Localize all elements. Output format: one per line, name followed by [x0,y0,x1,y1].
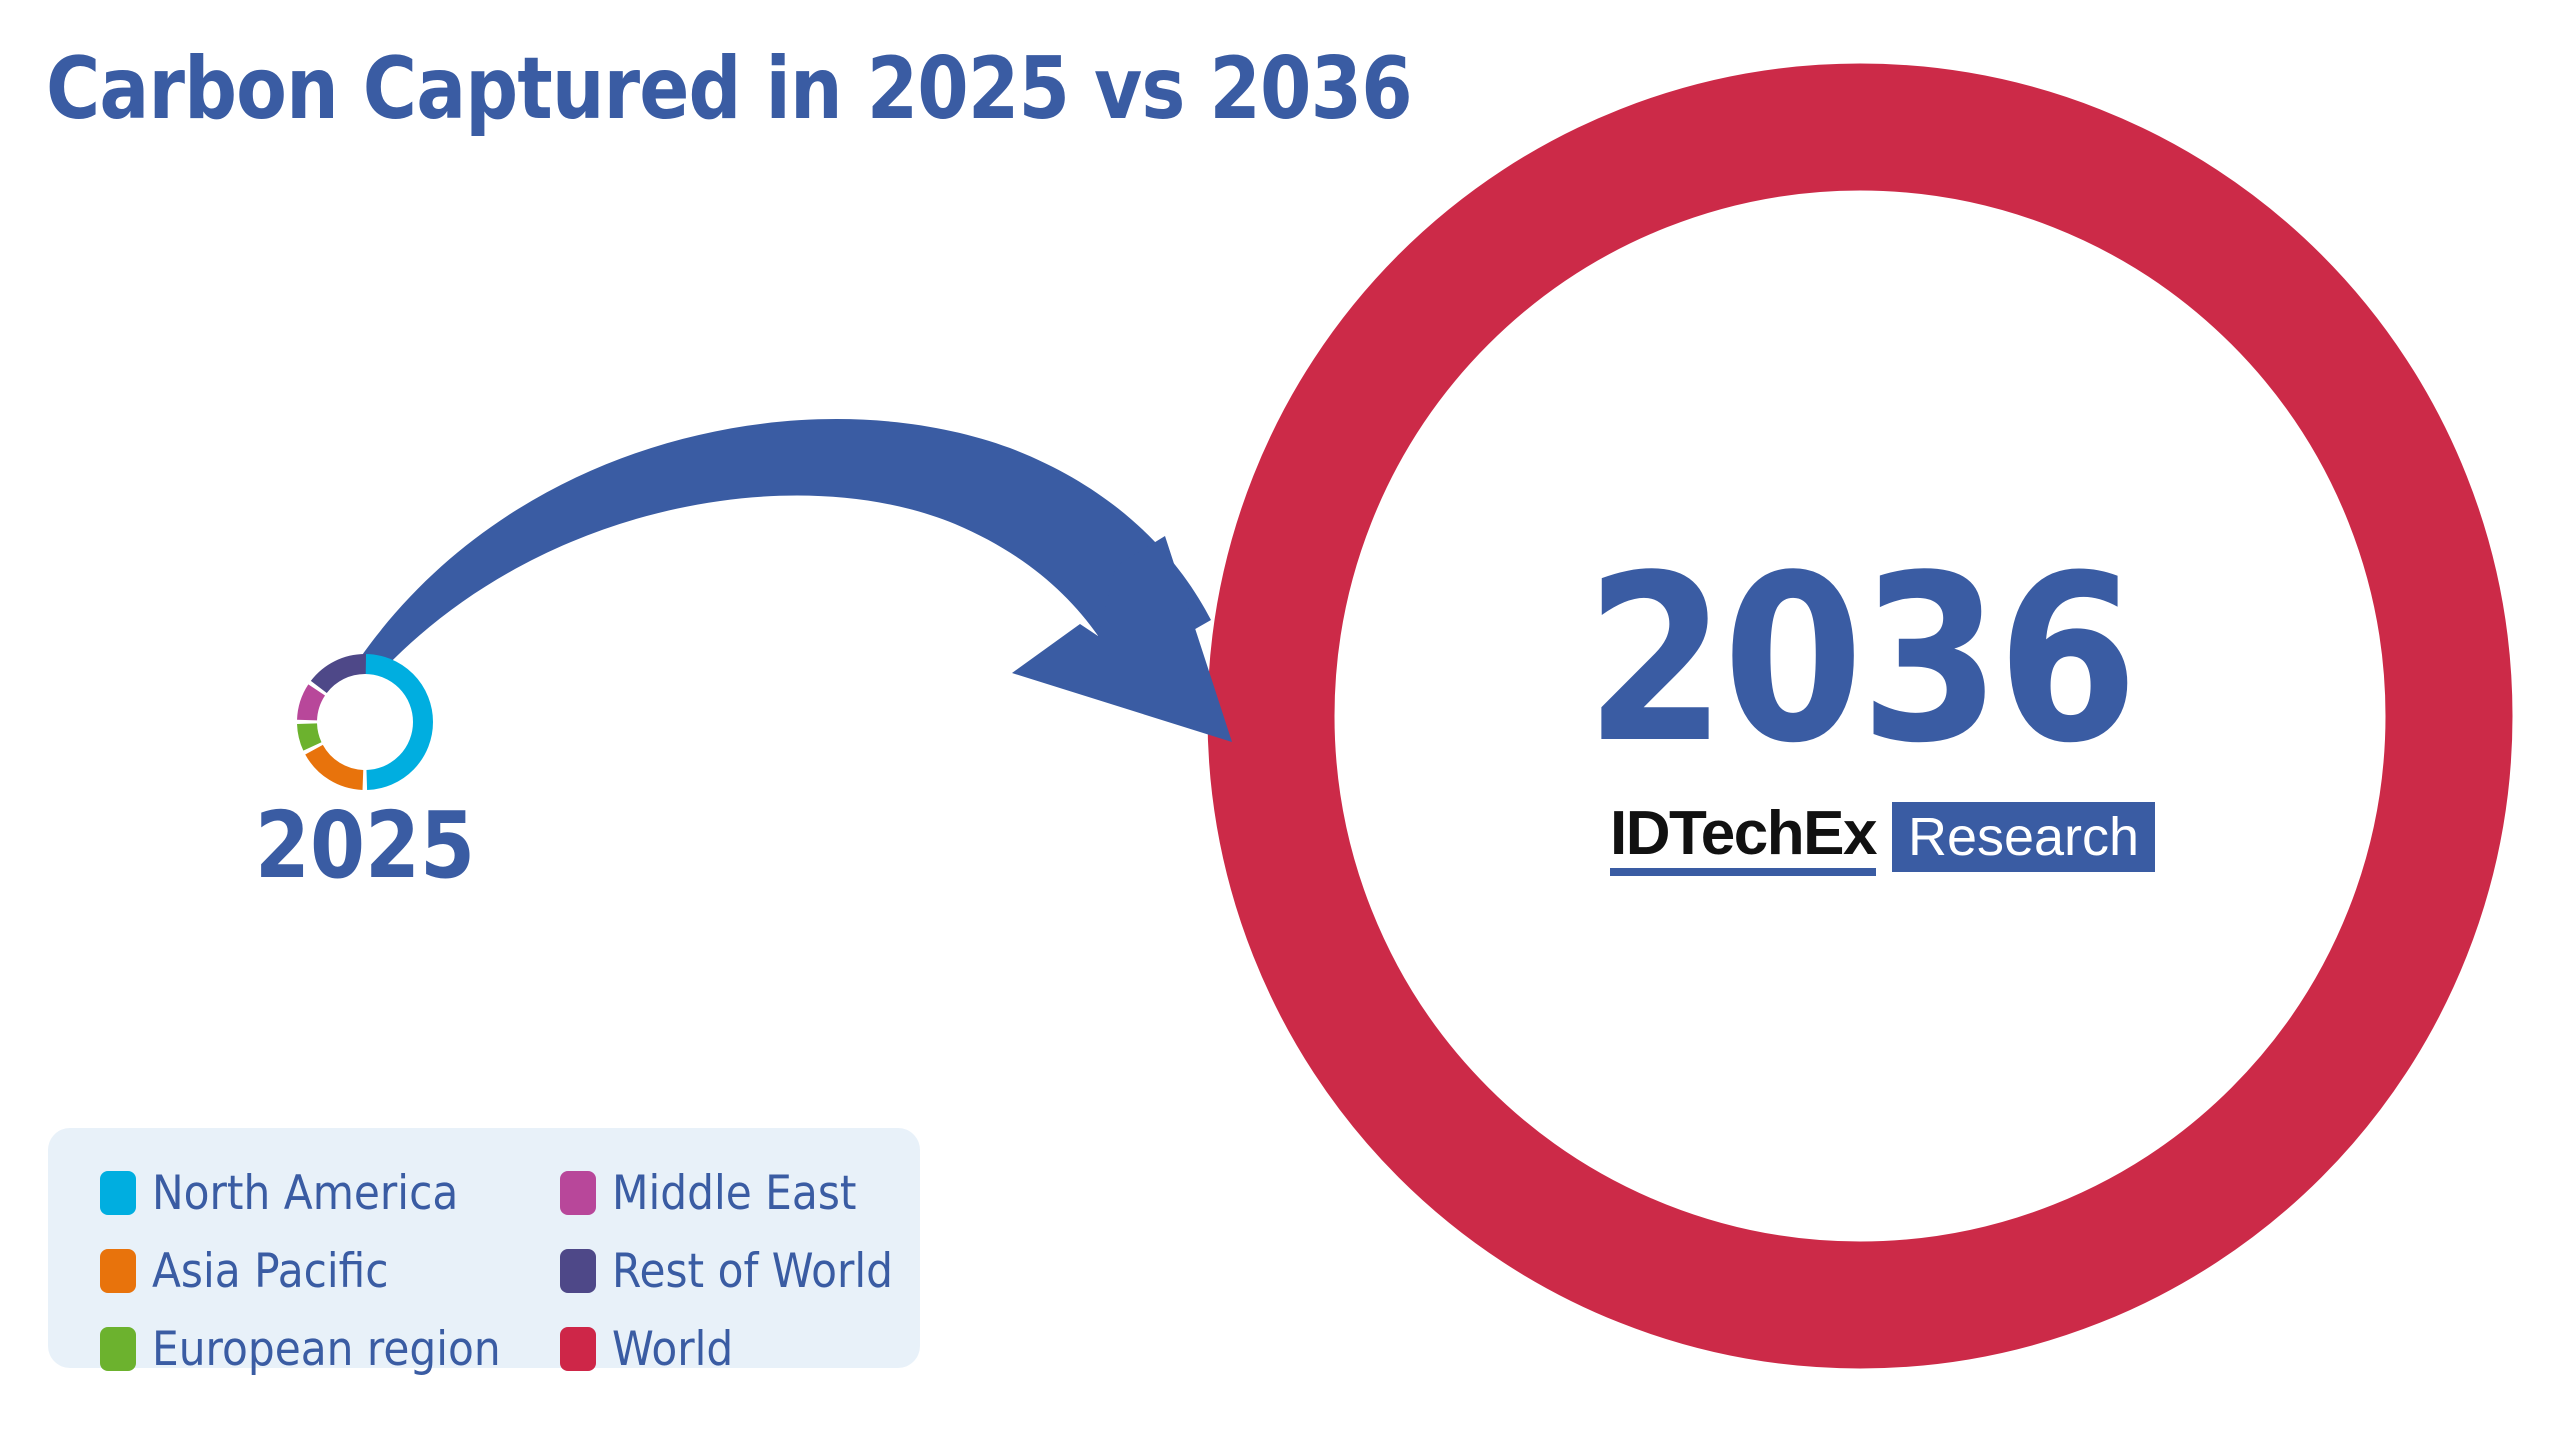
legend-item-label: World [612,1326,733,1373]
legend-swatch-icon [560,1171,596,1215]
logo-underline-rule [1610,868,1876,876]
year-label-2036: 2036 [1508,546,2212,776]
legend-item-label: Rest of World [612,1248,893,1295]
legend-item-european-region[interactable]: European region [100,1310,560,1388]
legend-swatch-icon [560,1249,596,1293]
logo-research-badge: Research [1892,802,2155,872]
legend-item-middle-east[interactable]: Middle East [560,1154,940,1232]
infographic-canvas: Carbon Captured in 2025 vs 2036 2025 [0,0,2560,1440]
legend-swatch-icon [100,1249,136,1293]
idtechex-research-logo[interactable]: IDTechEx Research [1610,802,2155,880]
growth-arrow [360,419,1232,742]
legend-item-label: European region [152,1326,501,1373]
legend-item-label: Middle East [612,1170,856,1217]
legend-item-label: North America [152,1170,458,1217]
logo-wordmark: IDTechEx [1610,802,1876,865]
legend-item-world[interactable]: World [560,1310,940,1388]
year-label-2025: 2025 [210,800,520,892]
legend-item-asia-pacific[interactable]: Asia Pacific [100,1232,560,1310]
legend-item-north-america[interactable]: North America [100,1154,560,1232]
legend-swatch-icon [560,1327,596,1371]
legend-item-label: Asia Pacific [152,1248,389,1295]
donut-chart-2025[interactable] [307,664,423,780]
logo-research-label: Research [1908,810,2139,864]
legend-panel: North America Middle East Asia Pacific R… [48,1128,920,1368]
legend-swatch-icon [100,1327,136,1371]
legend-item-rest-of-world[interactable]: Rest of World [560,1232,940,1310]
logo-wordmark-group: IDTechEx [1610,802,1876,880]
legend-swatch-icon [100,1171,136,1215]
